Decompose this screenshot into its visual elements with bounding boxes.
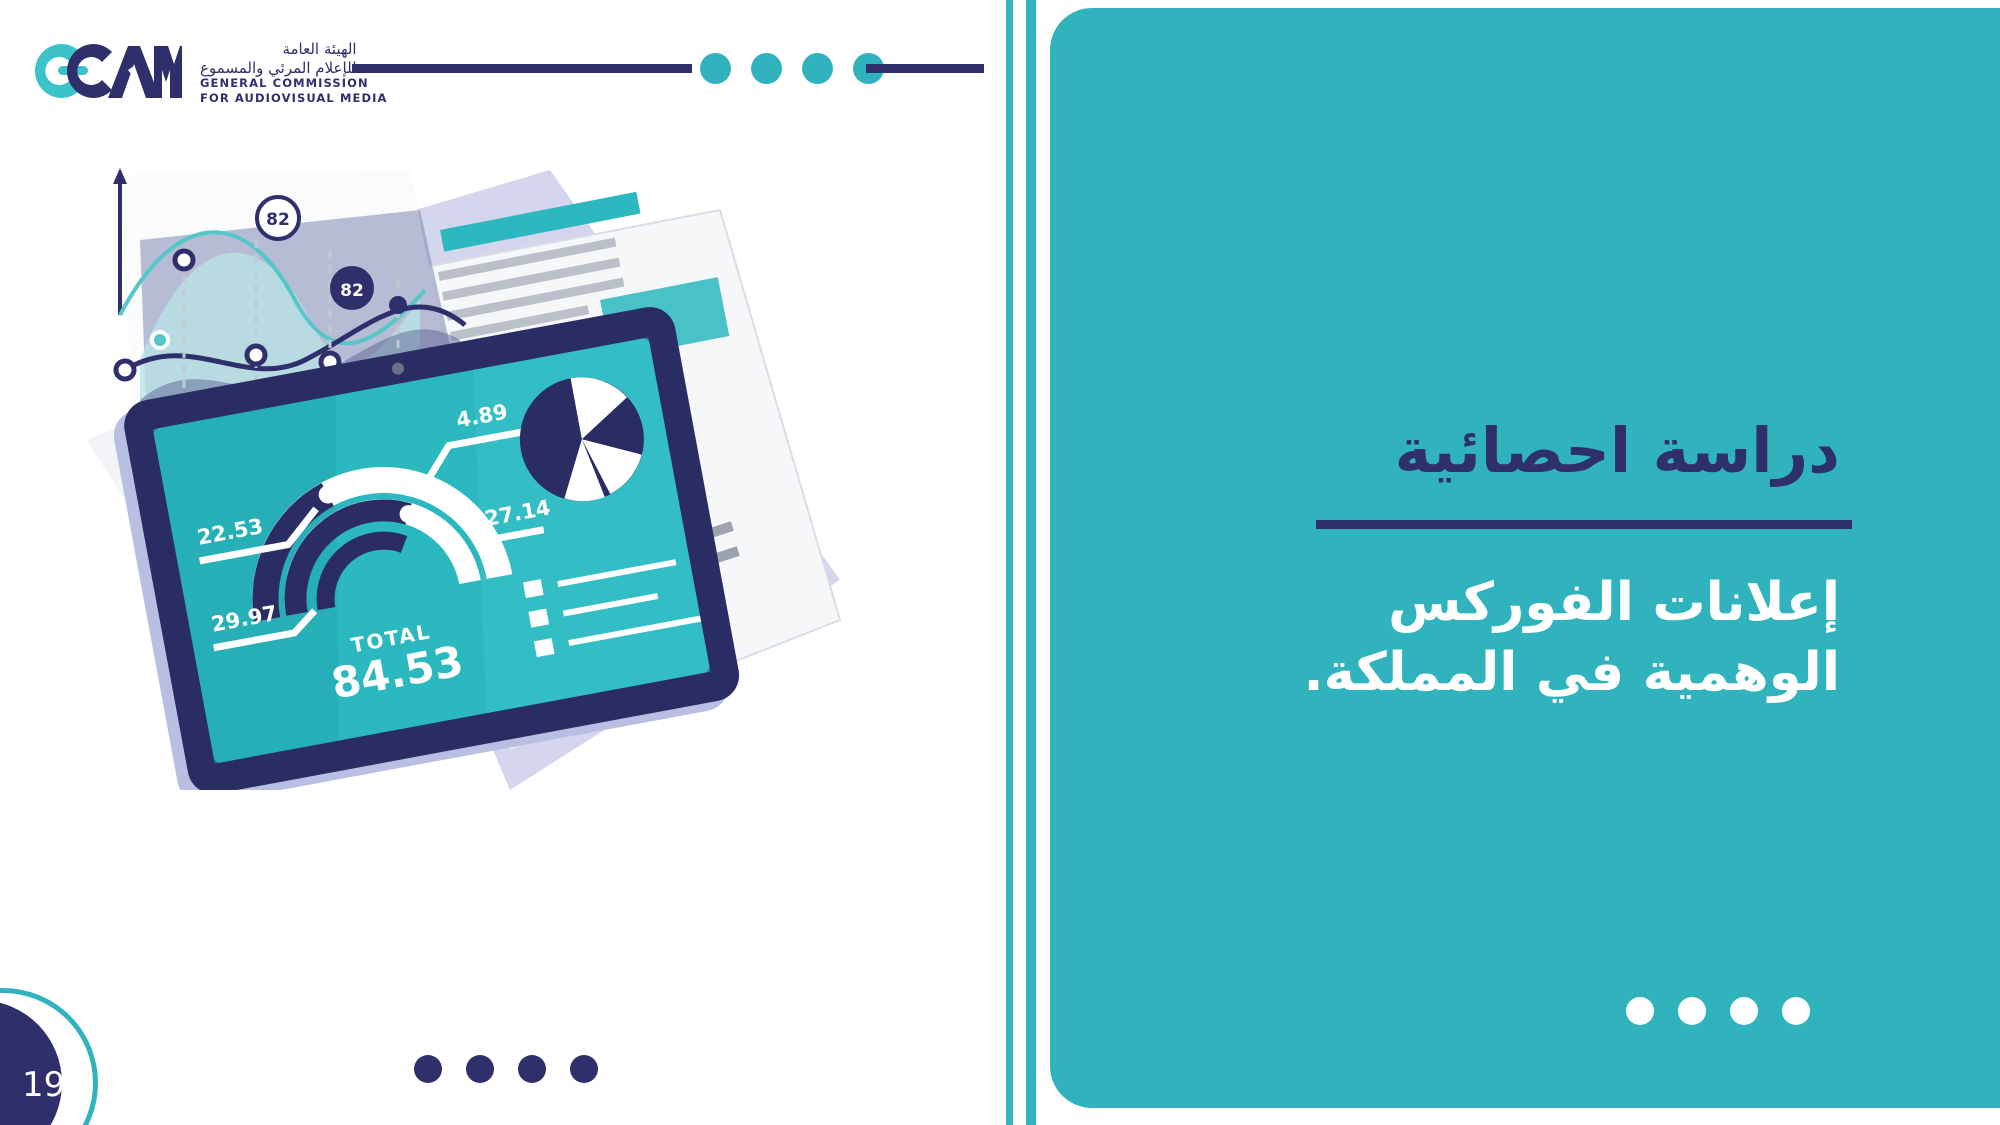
footer-dot	[466, 1055, 494, 1083]
panel-dots	[1626, 997, 1810, 1025]
gcam-logo-icon	[22, 40, 182, 102]
page-number: 19	[22, 1065, 65, 1105]
panel-dot	[1626, 997, 1654, 1025]
divider-line-thick	[1026, 0, 1036, 1125]
slide: الهيئة العامة للإعلام المرئي والمسموع GE…	[0, 0, 2000, 1125]
footer-dot	[518, 1055, 546, 1083]
header-dot	[700, 53, 731, 84]
svg-text:82: 82	[266, 210, 290, 230]
header-rule-right	[866, 64, 984, 73]
divider-line-thin	[1006, 0, 1013, 1125]
footer-dots	[414, 1055, 598, 1083]
content-panel: دراسة احصائية إعلانات الفوركس الوهمية في…	[1050, 8, 2000, 1108]
page-subtitle: إعلانات الفوركس الوهمية في المملكة.	[1280, 568, 1840, 708]
header-dot	[802, 53, 833, 84]
title-underline	[1316, 520, 1852, 529]
statistics-illustration: 82 82	[80, 150, 920, 790]
panel-dot	[1678, 997, 1706, 1025]
panel-dot	[1730, 997, 1758, 1025]
logo-english-text: GENERAL COMMISSION FOR AUDIOVISUAL MEDIA	[200, 76, 387, 106]
brand-logo: الهيئة العامة للإعلام المرئي والمسموع GE…	[22, 38, 352, 108]
footer-dot	[414, 1055, 442, 1083]
panel-dot	[1782, 997, 1810, 1025]
header-dots	[700, 53, 884, 84]
page-title: دراسة احصائية	[1395, 420, 1840, 482]
header-rule-left	[352, 64, 692, 73]
footer-dot	[570, 1055, 598, 1083]
logo-arabic-text: الهيئة العامة للإعلام المرئي والمسموع	[200, 40, 357, 78]
header-dot	[751, 53, 782, 84]
svg-text:82: 82	[340, 281, 364, 301]
